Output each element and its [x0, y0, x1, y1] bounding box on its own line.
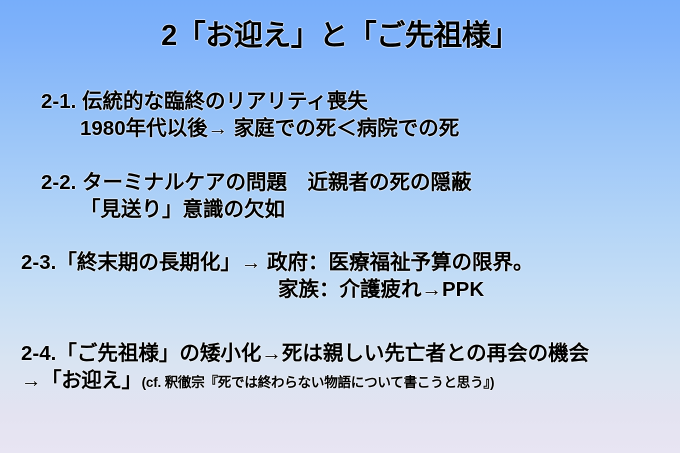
section-2-1: 2-1. 伝統的な臨終のリアリティ喪失 1980年代以後→ 家庭での死＜病院での… [0, 88, 680, 142]
section-2-2-lead: 2-2. ターミナルケアの問題 近親者の死の隠蔽 [0, 169, 680, 196]
section-2-4-citation: (cf. 釈徹宗『死では終わらない物語について書こうと思う』) [142, 375, 495, 390]
slide-body: 2-1. 伝統的な臨終のリアリティ喪失 1980年代以後→ 家庭での死＜病院での… [0, 88, 680, 396]
section-2-2: 2-2. ターミナルケアの問題 近親者の死の隠蔽 「見送り」意識の欠如 [0, 169, 680, 223]
section-2-4-sub-prefix: →「お迎え」 [21, 369, 142, 392]
spacer-1 [0, 142, 680, 169]
section-2-1-sub: 1980年代以後→ 家庭での死＜病院での死 [0, 115, 680, 142]
section-2-1-lead: 2-1. 伝統的な臨終のリアリティ喪失 [0, 88, 680, 115]
section-2-3-lead: 2-3.「終末期の長期化」→ 政府：医療福祉予算の限界。 [0, 249, 680, 276]
section-2-4-sub: →「お迎え」(cf. 釈徹宗『死では終わらない物語について書こうと思う』) [0, 367, 680, 396]
spacer-2 [0, 223, 680, 249]
page-title: 2「お迎え」と「ご先祖様」 [0, 20, 680, 53]
section-2-4: 2-4.「ご先祖様」の矮小化→死は親しい先亡者との再会の機会 →「お迎え」(cf… [0, 340, 680, 396]
slide-canvas: 2「お迎え」と「ご先祖様」 2-1. 伝統的な臨終のリアリティ喪失 1980年代… [0, 0, 680, 453]
section-2-2-sub: 「見送り」意識の欠如 [0, 196, 680, 223]
section-2-3: 2-3.「終末期の長期化」→ 政府：医療福祉予算の限界。 家族：介護疲れ→PPK [0, 249, 680, 303]
section-2-3-sub: 家族：介護疲れ→PPK [0, 276, 680, 303]
spacer-3 [0, 303, 680, 340]
section-2-4-lead: 2-4.「ご先祖様」の矮小化→死は親しい先亡者との再会の機会 [0, 340, 680, 367]
